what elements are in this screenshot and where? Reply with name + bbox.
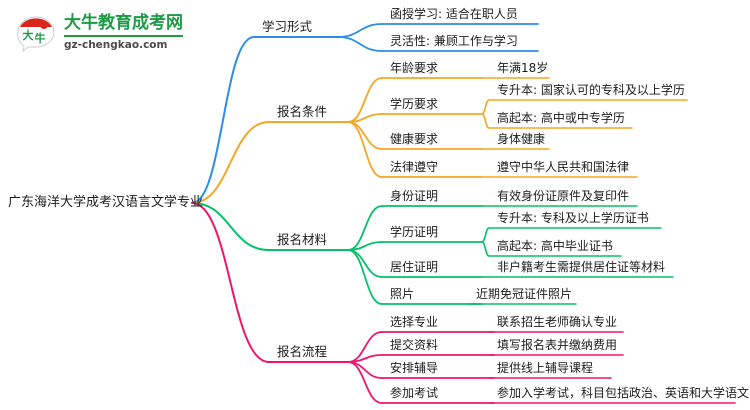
logo-subtitle: gz-chengkao.com bbox=[64, 39, 183, 51]
node-apply-conditions-1[interactable]: 学历要求 bbox=[390, 98, 438, 110]
leaf-apply-conditions-1-1[interactable]: 高起本: 高中或中专学历 bbox=[497, 112, 625, 124]
node-apply-materials-0[interactable]: 身份证明 bbox=[390, 190, 438, 202]
node-apply-conditions-3[interactable]: 法律遵守 bbox=[390, 161, 438, 173]
leaf-apply-process-1-0[interactable]: 填写报名表并缴纳费用 bbox=[497, 339, 617, 351]
node-apply-process-2[interactable]: 安排辅导 bbox=[390, 362, 438, 374]
node-apply-process-3[interactable]: 参加考试 bbox=[390, 387, 438, 399]
node-apply-materials-2[interactable]: 居住证明 bbox=[390, 261, 438, 273]
leaf-apply-materials-1-0[interactable]: 专升本: 专科及以上学历证书 bbox=[497, 212, 649, 224]
leaf-apply-conditions-0-0[interactable]: 年满18岁 bbox=[497, 62, 548, 74]
node-apply-materials-1[interactable]: 学历证明 bbox=[390, 226, 438, 238]
leaf-apply-conditions-1-0[interactable]: 专升本: 国家认可的专科及以上学历 bbox=[497, 84, 685, 96]
leaf-apply-process-2-0[interactable]: 提供线上辅导课程 bbox=[497, 362, 593, 374]
branch-label-apply-process[interactable]: 报名流程 bbox=[277, 346, 327, 359]
leaf-apply-process-3-0[interactable]: 参加入学考试，科目包括政治、英语和大学语文 bbox=[497, 387, 749, 399]
branch-label-study-form[interactable]: 学习形式 bbox=[262, 21, 312, 34]
node-apply-process-0[interactable]: 选择专业 bbox=[390, 316, 438, 328]
site-logo: 大 牛 大牛教育成考网 gz-chengkao.com bbox=[14, 8, 194, 56]
node-study-form-0[interactable]: 函授学习: 适合在职人员 bbox=[390, 8, 518, 20]
branch-label-apply-conditions[interactable]: 报名条件 bbox=[277, 106, 327, 119]
logo-text-block: 大牛教育成考网 gz-chengkao.com bbox=[64, 14, 183, 51]
leaf-apply-materials-3-0[interactable]: 近期免冠证件照片 bbox=[476, 288, 572, 300]
root-node[interactable]: 广东海洋大学成考汉语言文学专业 bbox=[8, 196, 203, 209]
leaf-apply-process-0-0[interactable]: 联系招生老师确认专业 bbox=[497, 316, 617, 328]
svg-text:牛: 牛 bbox=[35, 31, 46, 45]
daniu-speech-bubble-logo-icon: 大 牛 bbox=[14, 12, 58, 52]
node-apply-process-1[interactable]: 提交资料 bbox=[390, 339, 438, 351]
logo-divider bbox=[64, 35, 183, 37]
leaf-apply-materials-0-0[interactable]: 有效身份证原件及复印件 bbox=[497, 190, 629, 202]
leaf-apply-materials-1-1[interactable]: 高起本: 高中毕业证书 bbox=[497, 240, 613, 252]
logo-title: 大牛教育成考网 bbox=[64, 14, 183, 33]
leaf-apply-materials-2-0[interactable]: 非户籍考生需提供居住证等材料 bbox=[497, 261, 665, 273]
node-apply-conditions-2[interactable]: 健康要求 bbox=[390, 133, 438, 145]
svg-text:大: 大 bbox=[23, 28, 34, 42]
leaf-apply-conditions-3-0[interactable]: 遵守中华人民共和国法律 bbox=[497, 161, 629, 173]
node-apply-materials-3[interactable]: 照片 bbox=[390, 288, 414, 300]
node-apply-conditions-0[interactable]: 年龄要求 bbox=[390, 62, 438, 74]
leaf-apply-conditions-2-0[interactable]: 身体健康 bbox=[497, 133, 545, 145]
node-study-form-1[interactable]: 灵活性: 兼顾工作与学习 bbox=[390, 35, 518, 47]
branch-label-apply-materials[interactable]: 报名材料 bbox=[277, 234, 327, 247]
